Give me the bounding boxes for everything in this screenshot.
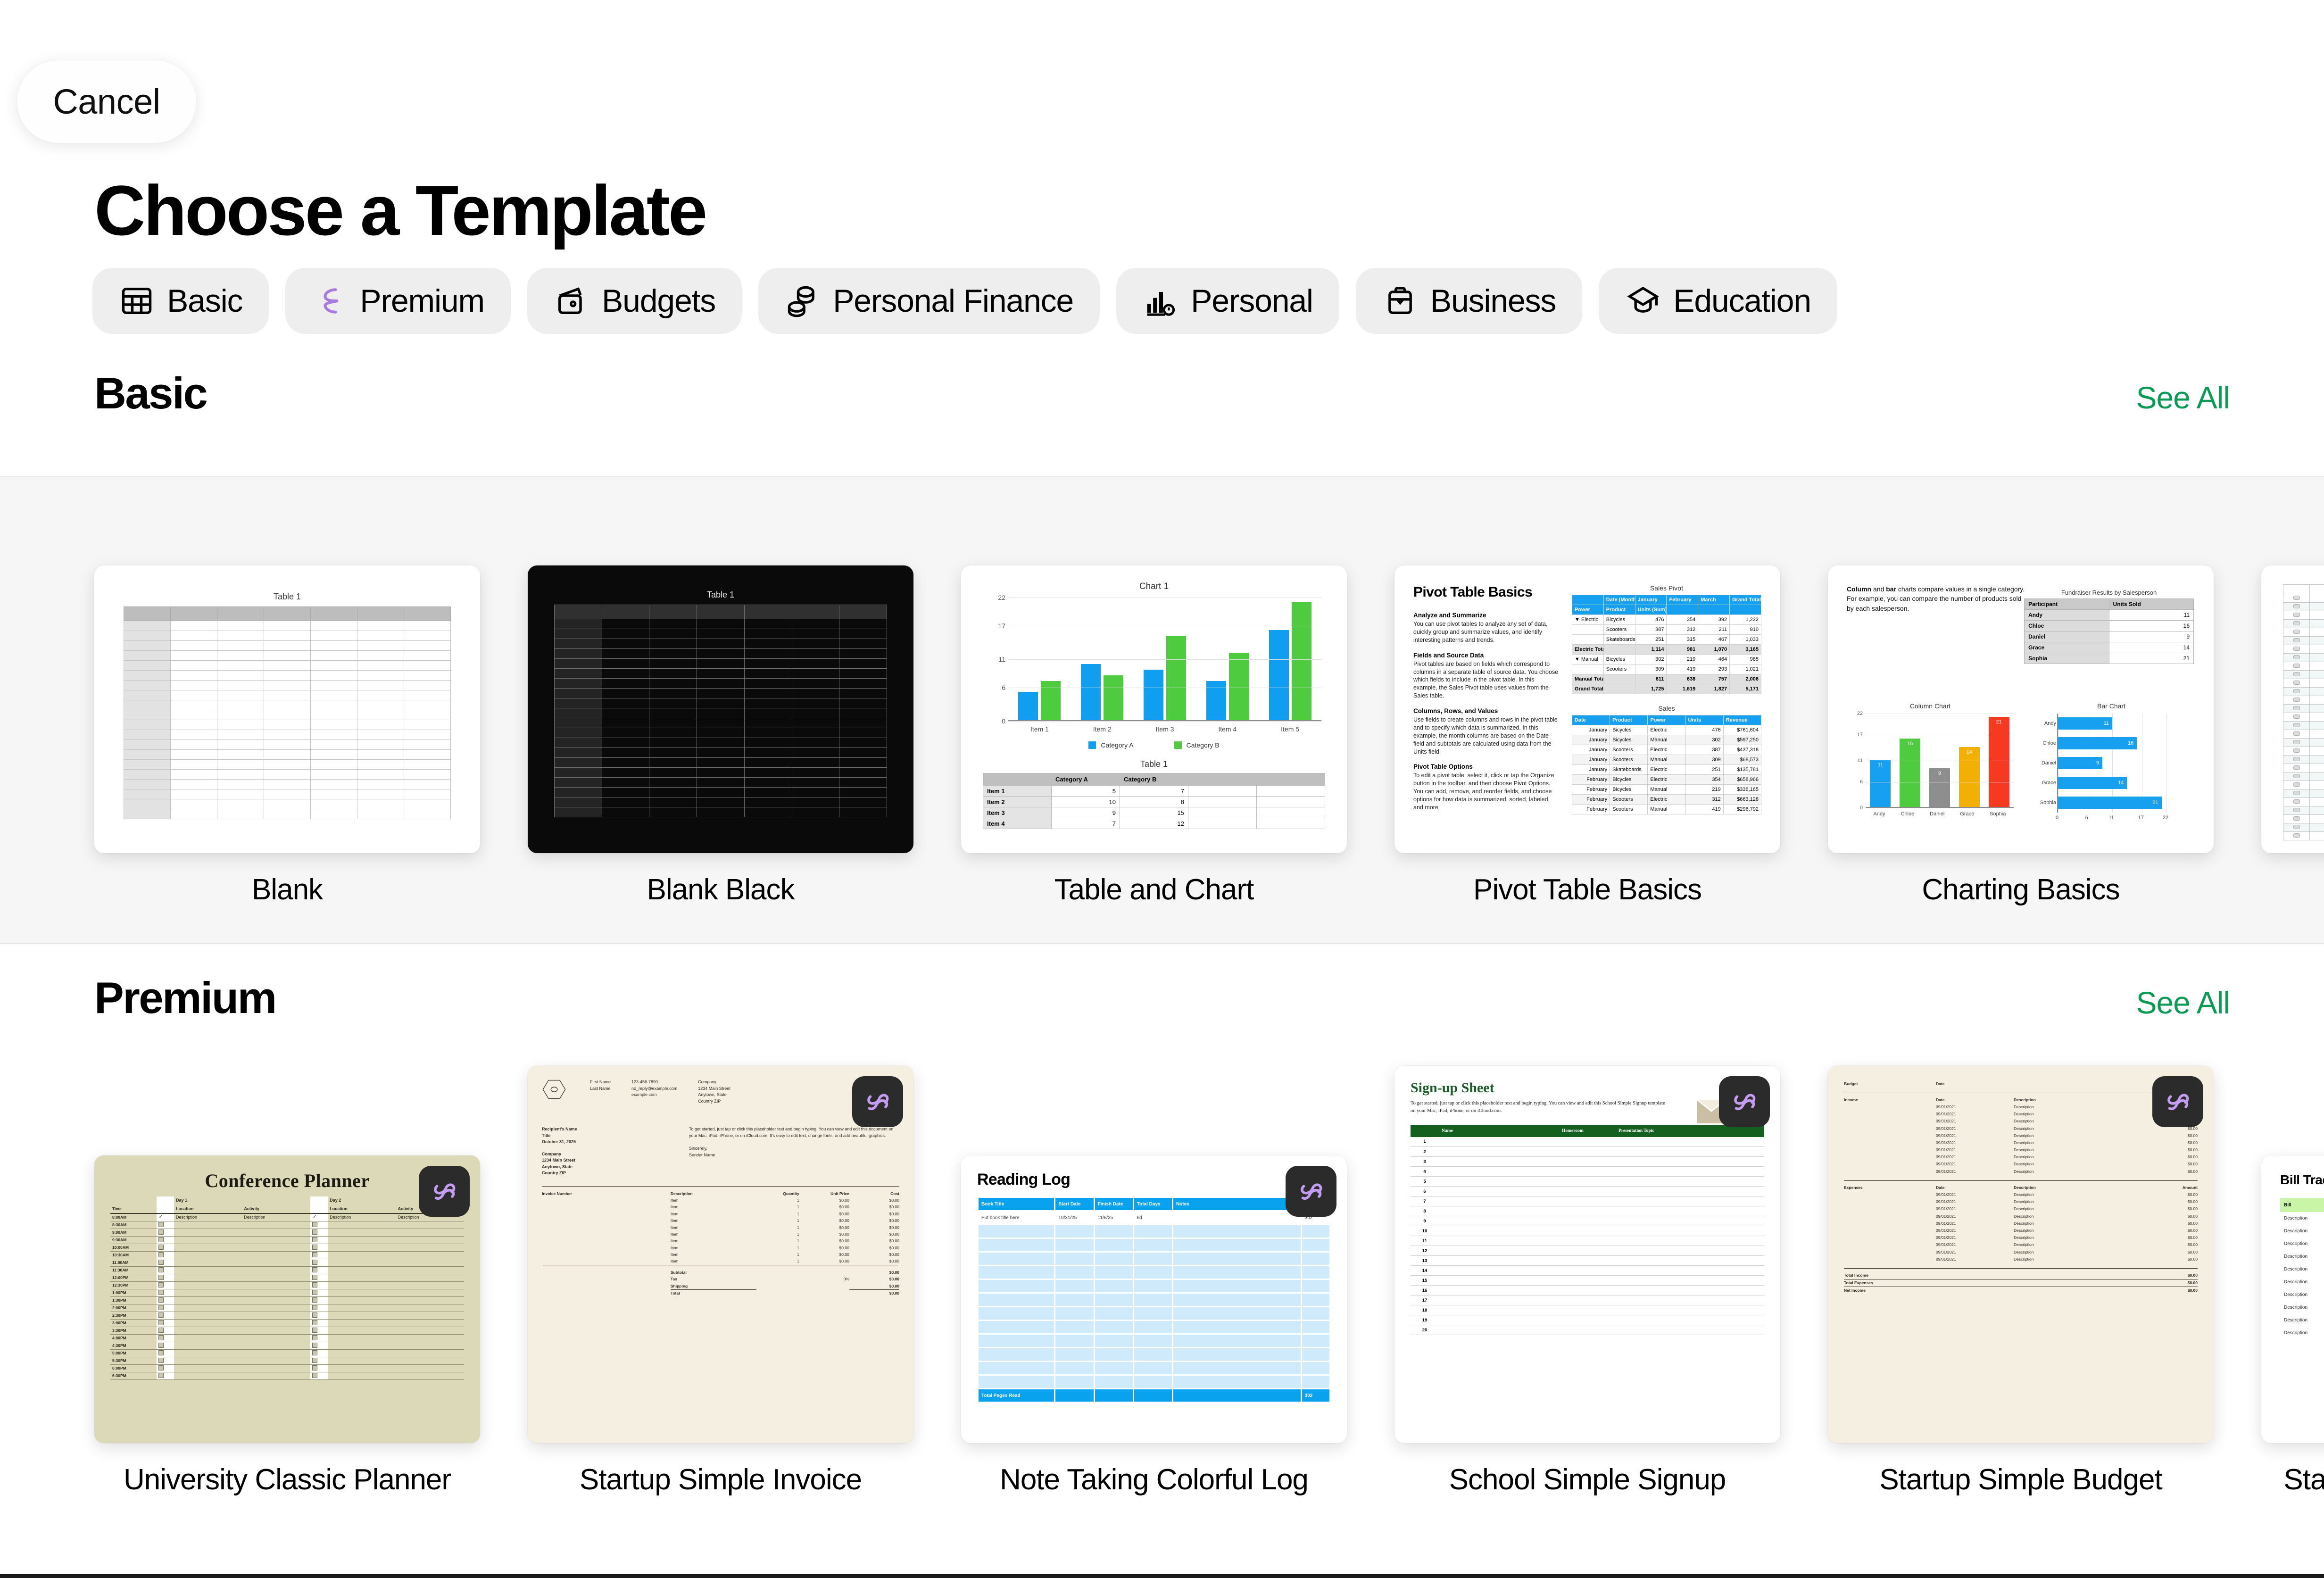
template-card-university-classic-planner[interactable]: Conference Planner Day 1Day 2TimeLocatio…	[94, 1155, 480, 1496]
gridline	[1866, 782, 2014, 782]
table-row	[2283, 671, 2324, 679]
checkbox-cell[interactable]	[157, 1304, 174, 1312]
table-cell	[602, 639, 649, 649]
table-cell: January	[1572, 745, 1610, 755]
table-cell	[744, 748, 792, 758]
checkbox-cell[interactable]	[2283, 772, 2310, 781]
checkbox-cell[interactable]	[2283, 594, 2310, 603]
checkbox-icon[interactable]	[2293, 808, 2300, 812]
checkbox-icon[interactable]	[158, 1343, 164, 1348]
invoice-items-table: Invoice NumberDescriptionQuantityUnit Pr…	[542, 1190, 899, 1297]
checkbox-cell[interactable]	[310, 1244, 328, 1251]
checkbox-icon[interactable]	[2293, 621, 2300, 625]
checkbox-icon[interactable]	[312, 1343, 317, 1348]
checkbox-icon[interactable]	[158, 1260, 164, 1265]
checkbox-cell[interactable]	[2283, 620, 2310, 628]
checkbox-icon[interactable]	[2293, 664, 2300, 668]
template-card-table-and-chart[interactable]: Chart 1 06111722 Item 1Item 2Item 3Item …	[961, 565, 1347, 906]
checkbox-cell[interactable]	[310, 1236, 328, 1244]
table-cell	[1302, 1280, 1329, 1292]
checkbox-icon[interactable]	[158, 1358, 164, 1363]
checkbox-icon[interactable]	[312, 1222, 317, 1227]
table-cell	[311, 631, 357, 641]
table-cell	[328, 1334, 396, 1342]
checkbox-cell[interactable]	[2283, 696, 2310, 705]
checkbox-icon[interactable]	[158, 1275, 164, 1280]
table-cell	[744, 698, 792, 708]
checkbox-cell[interactable]	[310, 1372, 328, 1379]
table-cell: $0.00	[799, 1258, 849, 1265]
bar	[1018, 692, 1038, 720]
chip-budgets[interactable]: Budgets	[527, 268, 742, 334]
checkbox-cell[interactable]	[310, 1251, 328, 1259]
checkbox-icon[interactable]	[312, 1290, 317, 1295]
checkbox-cell[interactable]	[310, 1281, 328, 1289]
checkbox-cell[interactable]	[2283, 671, 2310, 679]
table-cell	[979, 1362, 1054, 1374]
checkbox-icon[interactable]	[158, 1282, 164, 1287]
checkbox-icon[interactable]	[2293, 596, 2300, 600]
checkbox-cell[interactable]	[2283, 722, 2310, 730]
table-row: Description$0.00	[2280, 1276, 2324, 1288]
template-card-startup-simple-invoice[interactable]: First Name Last Name 123-456-7890 no_rep…	[528, 1066, 913, 1496]
checkbox-icon[interactable]	[158, 1252, 164, 1257]
table-row: Item1$0.00$0.00	[542, 1251, 899, 1258]
cancel-button[interactable]: Cancel	[17, 60, 196, 143]
checkbox-icon[interactable]	[312, 1245, 317, 1250]
checkbox-cell[interactable]	[157, 1259, 174, 1266]
checkbox-cell[interactable]	[157, 1221, 174, 1229]
table-cell	[1095, 1225, 1133, 1237]
column-header: January	[1635, 595, 1667, 605]
checkbox-cell[interactable]	[310, 1342, 328, 1349]
table-cell	[1055, 1239, 1093, 1251]
checkbox-icon[interactable]	[312, 1282, 317, 1287]
table-cell	[649, 738, 697, 748]
checkbox-icon[interactable]	[312, 1297, 317, 1303]
table-row: Item1$0.00$0.00	[542, 1204, 899, 1210]
chip-personal-finance[interactable]: Personal Finance	[758, 268, 1100, 334]
checkbox-icon[interactable]	[2293, 731, 2300, 736]
time-label: 1:30PM	[110, 1296, 157, 1304]
table-row: 09/01/2021Description$0.00	[1844, 1227, 2198, 1234]
checkbox-cell[interactable]: ✓	[310, 1213, 328, 1221]
checkbox-icon[interactable]	[312, 1252, 317, 1257]
table-cell	[396, 1221, 464, 1229]
checkbox-icon[interactable]	[2293, 757, 2300, 761]
checkbox-cell[interactable]	[157, 1312, 174, 1319]
time-label: 11:00AM	[110, 1259, 157, 1266]
table-cell: 1,619	[1667, 684, 1698, 694]
table-cell	[404, 681, 451, 690]
checkbox-icon[interactable]: ✓	[158, 1215, 164, 1220]
table-row: 09/01/2021Description$0.00	[1844, 1241, 2198, 1248]
bar: 11	[2058, 717, 2112, 730]
table-cell	[1844, 1154, 1936, 1161]
checkbox-cell[interactable]	[2283, 637, 2310, 645]
template-thumbnail: Chart 1 06111722 Item 1Item 2Item 3Item …	[961, 565, 1347, 853]
table-cell	[649, 619, 697, 629]
checkbox-icon[interactable]	[2293, 740, 2300, 744]
row-number: 6	[1411, 1187, 1439, 1196]
table-cell	[1439, 1206, 1559, 1216]
table-cell	[979, 1307, 1054, 1320]
table-cell	[1439, 1137, 1559, 1147]
table-cell: 09/01/2021	[1936, 1168, 2014, 1175]
table-row	[979, 1280, 1329, 1292]
checkbox-icon[interactable]	[158, 1328, 164, 1333]
table-cell	[174, 1312, 242, 1319]
bar	[1081, 664, 1101, 720]
checkbox-icon[interactable]	[2293, 706, 2300, 710]
table-cell: 1,827	[1698, 684, 1730, 694]
y-axis-tick: 22	[1848, 711, 1863, 716]
checkbox-icon[interactable]	[2293, 613, 2300, 617]
checkbox-cell[interactable]	[2283, 611, 2310, 620]
checkbox-cell[interactable]	[157, 1342, 174, 1349]
checkbox-icon[interactable]	[158, 1297, 164, 1303]
checkbox-cell[interactable]	[157, 1334, 174, 1342]
checkbox-cell[interactable]	[157, 1372, 174, 1379]
checkbox-cell[interactable]	[2283, 645, 2310, 654]
template-card-startup-simple-budget[interactable]: Budget Date IncomeDateDescriptionAmount0…	[1828, 1066, 2214, 1496]
checkbox-icon[interactable]	[158, 1267, 164, 1272]
totals-amount: $0.00	[2056, 1271, 2198, 1279]
checkbox-icon[interactable]	[312, 1350, 317, 1355]
checkbox-icon[interactable]	[158, 1320, 164, 1325]
checkbox-icon[interactable]	[312, 1267, 317, 1272]
table-cell	[756, 1283, 799, 1290]
table-cell	[1844, 1248, 1936, 1255]
checkbox-cell[interactable]	[2283, 739, 2310, 747]
checkbox-cell[interactable]	[2283, 823, 2310, 832]
table-row: 1:30PM	[110, 1296, 464, 1304]
table-cell	[404, 809, 451, 819]
checkbox-icon[interactable]	[312, 1237, 317, 1242]
checkbox-icon[interactable]	[312, 1229, 317, 1235]
template-card-note-taking-colorful-log[interactable]: Reading Log Book TitleStart DateFinish D…	[961, 1155, 1347, 1496]
chip-education[interactable]: Education	[1599, 268, 1837, 334]
checkbox-cell[interactable]	[157, 1357, 174, 1364]
column-header	[1698, 605, 1730, 615]
checkbox-cell[interactable]	[2283, 756, 2310, 764]
checkbox-cell[interactable]	[310, 1357, 328, 1364]
table-cell	[602, 689, 649, 698]
checkbox-cell[interactable]	[157, 1327, 174, 1334]
checkbox-cell[interactable]	[2283, 806, 2310, 815]
section-title-premium: Premium	[94, 972, 276, 1023]
checkbox-icon[interactable]	[2293, 698, 2300, 702]
checkbox-icon[interactable]	[2293, 833, 2300, 838]
checkbox-cell[interactable]	[2283, 832, 2310, 840]
checkbox-icon[interactable]	[2293, 689, 2300, 693]
template-card-standard-minimalist-bill-tracker[interactable]: Bill Tracker BillAmountJanFebMarAprMayJu…	[2261, 1155, 2324, 1496]
checkbox-icon[interactable]: ✓	[312, 1215, 317, 1220]
checkbox-cell[interactable]	[2283, 688, 2310, 696]
checkbox-cell[interactable]	[2283, 747, 2310, 756]
pivot-text-column: Pivot Table Basics Analyze and Summarize…	[1413, 584, 1560, 834]
table-cell	[1055, 1376, 1093, 1388]
checkbox-cell[interactable]	[310, 1221, 328, 1229]
checkbox-icon[interactable]	[2293, 816, 2300, 821]
table-row: Description$0.00	[2280, 1263, 2324, 1276]
chip-premium[interactable]: Premium	[285, 268, 511, 334]
template-card-pivot-table-basics[interactable]: Pivot Table Basics Analyze and Summarize…	[1394, 565, 1780, 906]
checkbox-icon[interactable]	[158, 1290, 164, 1295]
table-cell: $0.00	[2127, 1154, 2198, 1161]
table-cell	[744, 788, 792, 797]
table-cell: $0.00	[849, 1237, 899, 1244]
checkbox-icon[interactable]	[2293, 748, 2300, 753]
chip-business[interactable]: Business	[1356, 268, 1582, 334]
checkbox-icon[interactable]	[312, 1328, 317, 1333]
checkbox-icon[interactable]	[158, 1222, 164, 1227]
table-cell	[697, 698, 745, 708]
table-cell	[2310, 815, 2324, 823]
time-label: 3:30PM	[110, 1327, 157, 1334]
table-cell	[171, 700, 217, 710]
table-header-row: ExpensesDateDescriptionAmount	[1844, 1184, 2198, 1191]
checkbox-cell[interactable]	[157, 1349, 174, 1357]
checkbox-icon[interactable]	[2293, 672, 2300, 676]
checkbox-cell[interactable]	[310, 1312, 328, 1319]
y-axis-tick: 11	[1848, 758, 1863, 764]
table-row: 19	[1411, 1315, 1764, 1325]
checkbox-cell[interactable]	[2283, 705, 2310, 713]
checkbox-icon[interactable]	[312, 1365, 317, 1370]
table-cell	[404, 780, 451, 789]
checkbox-cell[interactable]	[310, 1259, 328, 1266]
checkbox-icon[interactable]	[2293, 655, 2300, 659]
checkbox-cell[interactable]	[157, 1251, 174, 1259]
table-row	[124, 740, 451, 750]
checkbox-icon[interactable]	[312, 1358, 317, 1363]
table-row: 12	[1411, 1246, 1764, 1256]
checkbox-cell[interactable]	[310, 1327, 328, 1334]
checkbox-cell[interactable]	[157, 1289, 174, 1296]
column-header	[1188, 773, 1257, 786]
invoice-company: Company 1234 Main Street Anytown, State …	[698, 1079, 730, 1105]
table-cell: Item	[671, 1237, 756, 1244]
table-row: Description$0.00	[2280, 1314, 2324, 1327]
totals-row: Net Income$0.00	[1844, 1287, 2198, 1294]
table-cell	[171, 661, 217, 671]
checkbox-icon[interactable]	[2293, 791, 2300, 795]
totals-cell	[1095, 1389, 1133, 1402]
table-cell	[357, 621, 404, 631]
chip-business-label: Business	[1430, 282, 1556, 319]
basic-template-row: Table 1 Blank Table 1 Blank Black Chart …	[94, 565, 2324, 906]
checkbox-icon[interactable]	[2293, 799, 2300, 804]
table-cell: 09/01/2021	[1936, 1227, 2014, 1234]
chip-personal[interactable]: Personal	[1116, 268, 1339, 334]
checkbox-icon[interactable]	[2293, 825, 2300, 829]
table-cell	[264, 750, 311, 760]
column-header: Units Sold	[2109, 599, 2193, 610]
table-cell	[1439, 1296, 1559, 1305]
table-cell: Item	[671, 1251, 756, 1258]
checkbox-icon[interactable]	[312, 1373, 317, 1378]
window-bottom-edge	[0, 1574, 2324, 1578]
checkbox-icon[interactable]	[2293, 765, 2300, 770]
checkbox-cell[interactable]	[2283, 662, 2310, 671]
table-cell	[217, 651, 264, 661]
checkbox-icon[interactable]	[158, 1312, 164, 1318]
checkbox-cell[interactable]	[2283, 713, 2310, 722]
bar-value-label: 16	[1907, 741, 1913, 747]
checkbox-cell[interactable]: ✓	[157, 1213, 174, 1221]
template-card-partial-next[interactable]	[2261, 565, 2324, 906]
y-axis-tick: 17	[1848, 732, 1863, 738]
table-cell	[697, 728, 745, 738]
table-row: 09/01/2021Description$0.00	[1844, 1139, 2198, 1146]
checkbox-icon[interactable]	[312, 1335, 317, 1340]
table-cell	[217, 760, 264, 770]
checkbox-cell[interactable]	[310, 1229, 328, 1236]
checkbox-icon[interactable]	[158, 1229, 164, 1235]
table-cell: Scooters	[1610, 745, 1648, 755]
invoice-body: To get started, just tap or click this p…	[689, 1126, 899, 1177]
table-cell	[1095, 1321, 1133, 1333]
checkbox-icon[interactable]	[2293, 604, 2300, 608]
table-cell: $0.00	[2127, 1139, 2198, 1146]
checkbox-icon[interactable]	[312, 1305, 317, 1310]
checkbox-cell[interactable]	[2283, 654, 2310, 662]
checkbox-cell[interactable]	[157, 1244, 174, 1251]
table-cell	[744, 649, 792, 659]
see-all-premium[interactable]: See All	[2136, 985, 2230, 1021]
row-number: 2	[1411, 1147, 1439, 1157]
table-cell: $0.00	[849, 1217, 899, 1224]
checkbox-icon[interactable]	[158, 1305, 164, 1310]
bar-chart-title: Bar Chart	[2028, 702, 2195, 710]
checkbox-icon[interactable]	[2293, 782, 2300, 787]
checkbox-icon[interactable]	[2293, 647, 2300, 651]
template-card-blank-black[interactable]: Table 1 Blank Black	[528, 565, 913, 906]
checkbox-cell[interactable]	[157, 1296, 174, 1304]
checkbox-icon[interactable]	[158, 1350, 164, 1355]
checkbox-icon[interactable]	[158, 1365, 164, 1370]
table-cell: Description	[2280, 1225, 2324, 1237]
table-cell: 312	[1685, 795, 1723, 805]
checkbox-icon[interactable]	[2293, 774, 2300, 778]
checkbox-cell[interactable]	[310, 1304, 328, 1312]
checkbox-cell[interactable]	[157, 1229, 174, 1236]
budget-rule-top	[1844, 1093, 2198, 1093]
row-header	[555, 758, 602, 768]
checkbox-cell[interactable]	[310, 1296, 328, 1304]
checkbox-cell[interactable]	[310, 1349, 328, 1357]
table-cell	[217, 730, 264, 740]
table-cell	[357, 661, 404, 671]
table-row: 5:00PM	[110, 1349, 464, 1357]
column-header: Time	[110, 1204, 157, 1213]
checkbox-cell[interactable]	[2283, 798, 2310, 806]
checkbox-cell[interactable]	[310, 1289, 328, 1296]
see-all-basic[interactable]: See All	[2136, 380, 2230, 415]
checkbox-icon[interactable]	[158, 1237, 164, 1242]
table-row	[555, 807, 887, 817]
blank-black-grid	[554, 605, 887, 817]
checkbox-cell[interactable]	[2283, 764, 2310, 772]
checkbox-cell[interactable]	[157, 1236, 174, 1244]
totals-cell	[1055, 1389, 1093, 1402]
checkbox-cell[interactable]	[2283, 730, 2310, 739]
checkbox-cell[interactable]	[157, 1274, 174, 1281]
template-card-blank[interactable]: Table 1 Blank	[94, 565, 480, 906]
column-header: Description	[671, 1190, 756, 1197]
checkbox-icon[interactable]	[2293, 714, 2300, 719]
checkbox-icon[interactable]	[312, 1312, 317, 1318]
checkbox-cell[interactable]	[2283, 628, 2310, 637]
checkbox-cell[interactable]	[157, 1319, 174, 1327]
checkbox-icon[interactable]	[158, 1373, 164, 1378]
checkbox-cell[interactable]	[2283, 781, 2310, 789]
checkbox-icon[interactable]	[158, 1245, 164, 1250]
table-cell	[1173, 1307, 1301, 1320]
table-cell	[217, 720, 264, 730]
table-cell	[792, 758, 839, 768]
template-card-charting-basics[interactable]: Column and bar charts compare values in …	[1828, 565, 2214, 906]
table-cell: Manual	[1648, 755, 1685, 765]
table-cell	[1439, 1177, 1559, 1187]
checkbox-cell[interactable]	[2283, 679, 2310, 688]
table-cell	[649, 659, 697, 669]
checkbox-cell[interactable]	[310, 1334, 328, 1342]
checkbox-icon[interactable]	[2293, 630, 2300, 634]
table-cell	[1844, 1220, 1936, 1227]
template-card-school-simple-signup[interactable]: Sign-up Sheet To get started, just tap o…	[1394, 1066, 1780, 1496]
checkbox-cell[interactable]	[2283, 603, 2310, 611]
checkbox-cell[interactable]	[157, 1281, 174, 1289]
checkbox-icon[interactable]	[2293, 681, 2300, 685]
table-cell	[357, 809, 404, 819]
table-cell: 211	[1698, 625, 1730, 635]
table-row: Item1$0.00$0.00	[542, 1237, 899, 1244]
chip-basic[interactable]: Basic	[92, 268, 269, 334]
row-header	[555, 619, 602, 629]
checkbox-cell[interactable]	[310, 1364, 328, 1372]
checkbox-cell[interactable]	[157, 1364, 174, 1372]
checkbox-icon[interactable]	[2293, 638, 2300, 642]
table-cell: Description	[2014, 1227, 2127, 1234]
table-cell	[1134, 1335, 1172, 1347]
checkbox-cell[interactable]	[2283, 789, 2310, 798]
table-cell	[602, 738, 649, 748]
gridline	[1008, 659, 1321, 660]
checkbox-cell[interactable]	[310, 1319, 328, 1327]
table-row: 10:30AM	[110, 1251, 464, 1259]
table-row: Item1$0.00$0.00	[542, 1224, 899, 1230]
checkbox-icon[interactable]	[2293, 723, 2300, 727]
checkbox-icon[interactable]	[158, 1335, 164, 1340]
checkbox-cell[interactable]	[2283, 815, 2310, 823]
checkbox-icon[interactable]	[312, 1260, 317, 1265]
table-cell	[396, 1334, 464, 1342]
table-header-row: Day 1Day 2	[110, 1196, 464, 1204]
table-cell	[839, 669, 887, 679]
table-row: Item1$0.00$0.00	[542, 1217, 899, 1224]
checkbox-cell[interactable]	[310, 1266, 328, 1274]
table-cell	[264, 789, 311, 799]
checkbox-icon[interactable]	[312, 1275, 317, 1280]
table-cell: $0.00	[799, 1211, 849, 1217]
checkbox-cell[interactable]	[310, 1274, 328, 1281]
checkbox-cell[interactable]	[157, 1266, 174, 1274]
checkbox-icon[interactable]	[312, 1320, 317, 1325]
table-row	[555, 669, 887, 679]
y-axis-tick: 11	[985, 656, 1005, 663]
